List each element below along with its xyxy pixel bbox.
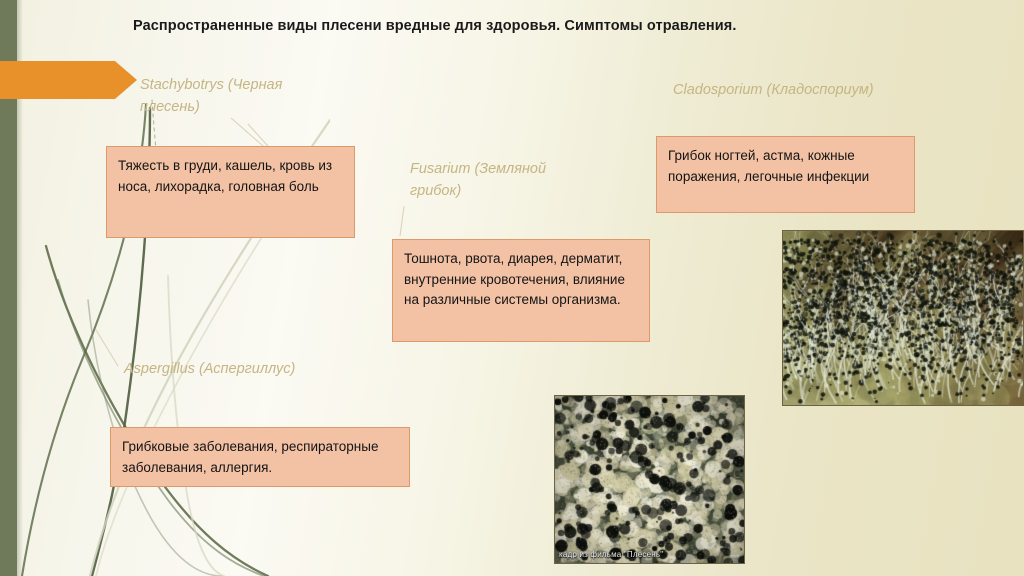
symptom-box-fusarium: Тошнота, рвота, диарея, дерматит, внутре… — [392, 239, 650, 342]
photo-mold-colony-image — [555, 396, 744, 563]
photo-caption: кадр из фильма "Плесень" — [559, 550, 663, 559]
species-label-fusarium: Fusarium (Земляной грибок) — [410, 158, 560, 203]
page-title: Распространенные виды плесени вредные дл… — [133, 17, 873, 35]
symptom-box-aspergillus: Грибковые заболевания, респираторные заб… — [110, 427, 410, 487]
photo-mold-filaments-image — [783, 231, 1023, 405]
symptom-box-stachybotrys: Тяжесть в груди, кашель, кровь из носа, … — [106, 146, 355, 238]
species-label-aspergillus: Aspergillus (Аспергиллус) — [124, 358, 424, 380]
species-label-cladosporium: Cladosporium (Кладоспориум) — [673, 79, 893, 101]
symptom-box-cladosporium: Грибок ногтей, астма, кожные поражения, … — [656, 136, 915, 213]
slide-canvas: Распространенные виды плесени вредные дл… — [0, 0, 1024, 576]
orange-arrow — [0, 61, 137, 99]
photo-mold-colony: кадр из фильма "Плесень" — [554, 395, 745, 564]
species-label-stachybotrys: Stachybotrys (Черная плесень) — [140, 74, 340, 119]
photo-mold-filaments — [782, 230, 1024, 406]
